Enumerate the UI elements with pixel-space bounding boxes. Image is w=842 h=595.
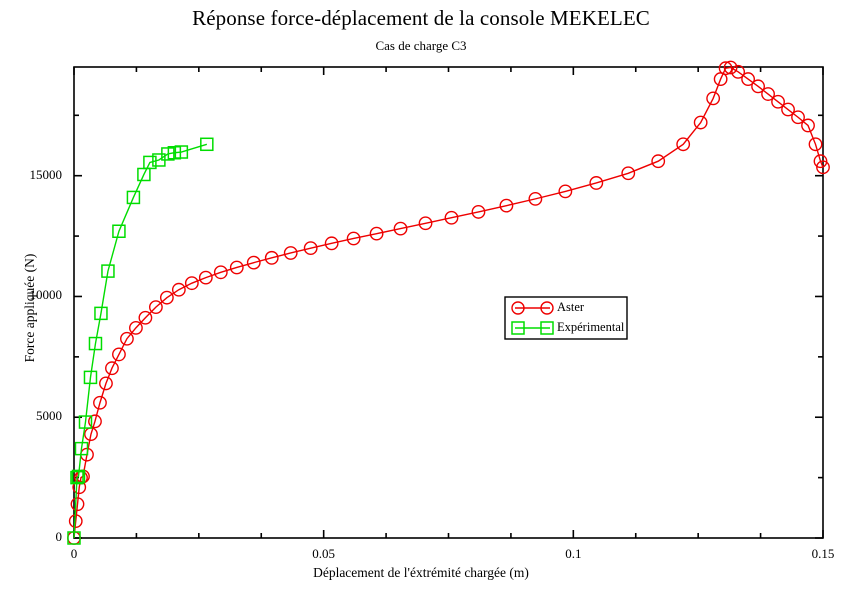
x-tick-label: 0.15 — [793, 546, 842, 562]
axes-frame — [74, 67, 823, 538]
y-tick-label: 5000 — [0, 408, 62, 424]
y-tick-label: 0 — [0, 529, 62, 545]
x-tick-label: 0.1 — [543, 546, 603, 562]
data-series-layer — [68, 61, 829, 544]
axis-ticks — [74, 67, 823, 538]
series-exprimental — [68, 138, 213, 544]
chart-figure: Réponse force-déplacement de la console … — [0, 0, 842, 595]
legend-label-exprimental: Expérimental — [557, 320, 624, 335]
x-tick-label: 0.05 — [294, 546, 354, 562]
x-tick-label: 0 — [44, 546, 104, 562]
y-tick-label: 15000 — [0, 167, 62, 183]
plot-area — [0, 0, 842, 595]
legend-label-aster: Aster — [557, 300, 584, 315]
series-aster — [68, 61, 829, 544]
y-tick-label: 10000 — [0, 287, 62, 303]
